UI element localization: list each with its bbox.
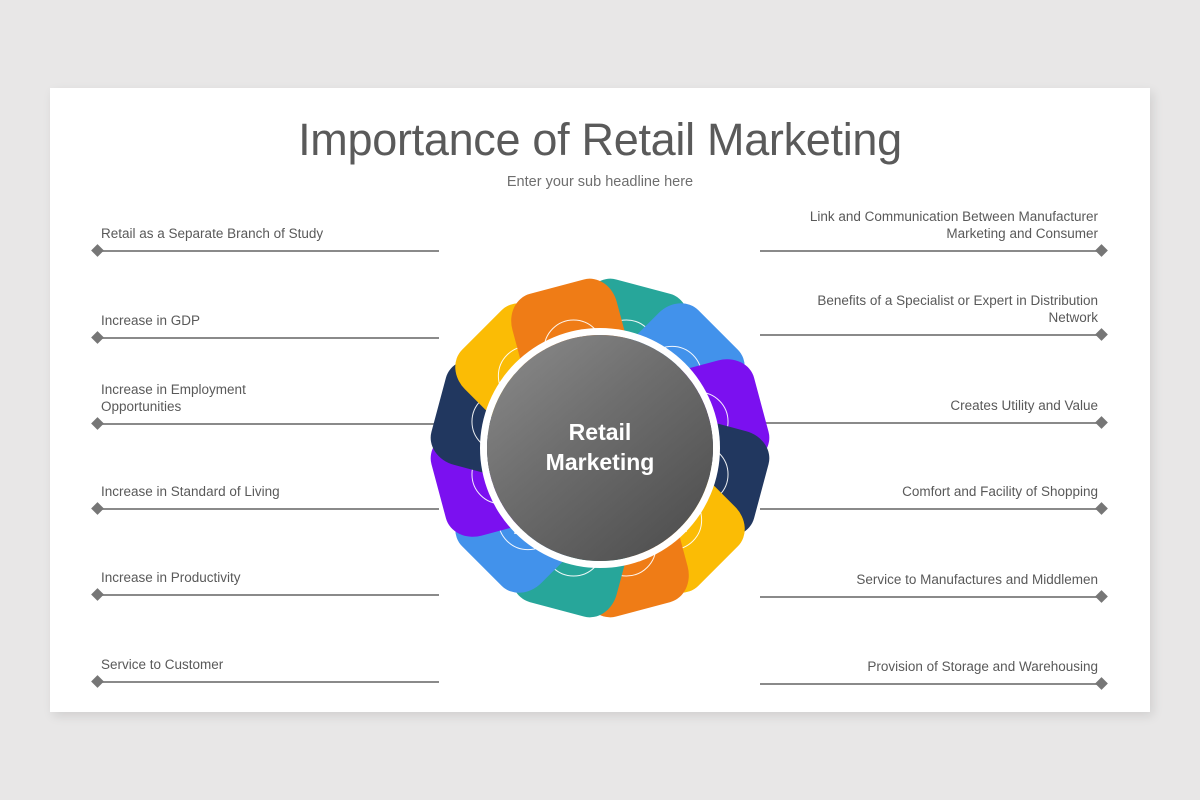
slide-card: Importance of Retail Marketing Enter you…: [50, 88, 1150, 712]
left-connector-label: Increase in Employment Opportunities: [101, 382, 246, 416]
page-subtitle: Enter your sub headline here: [50, 174, 1150, 190]
right-connector-label: Benefits of a Specialist or Expert in Di…: [817, 293, 1098, 327]
right-connector-label: Provision of Storage and Warehousing: [867, 659, 1098, 676]
right-connector-label: Service to Manufactures and Middlemen: [856, 572, 1098, 589]
right-connector-label: Creates Utility and Value: [950, 398, 1098, 415]
connector-diamond-marker: [91, 244, 104, 257]
left-connector-label: Increase in Standard of Living: [101, 484, 280, 501]
right-connector-label: Link and Communication Between Manufactu…: [810, 209, 1098, 243]
connector-diamond-marker: [91, 417, 104, 430]
connector-diamond-marker: [91, 675, 104, 688]
connector-diamond-marker: [91, 502, 104, 515]
connector-diamond-marker: [91, 331, 104, 344]
connector-diamond-marker: [91, 588, 104, 601]
left-connector-label: Retail as a Separate Branch of Study: [101, 226, 323, 243]
connector-diamond-marker: [1095, 244, 1108, 257]
center-hub: Retail Marketing: [487, 335, 713, 561]
left-connector-label: Service to Customer: [101, 657, 223, 674]
connector-diamond-marker: [1095, 416, 1108, 429]
connector-diamond-marker: [1095, 677, 1108, 690]
left-connector-label: Increase in GDP: [101, 313, 200, 330]
connector-line: [760, 683, 1105, 685]
hub-label: Retail Marketing: [546, 418, 655, 478]
connector-diamond-marker: [1095, 590, 1108, 603]
radial-wheel-diagram: Retail Marketing: [375, 223, 825, 673]
page-title: Importance of Retail Marketing: [50, 114, 1150, 166]
left-connector-label: Increase in Productivity: [101, 570, 241, 587]
connector-diamond-marker: [1095, 328, 1108, 341]
connector-line: [94, 681, 439, 683]
connector-diamond-marker: [1095, 502, 1108, 515]
right-connector-label: Comfort and Facility of Shopping: [902, 484, 1098, 501]
